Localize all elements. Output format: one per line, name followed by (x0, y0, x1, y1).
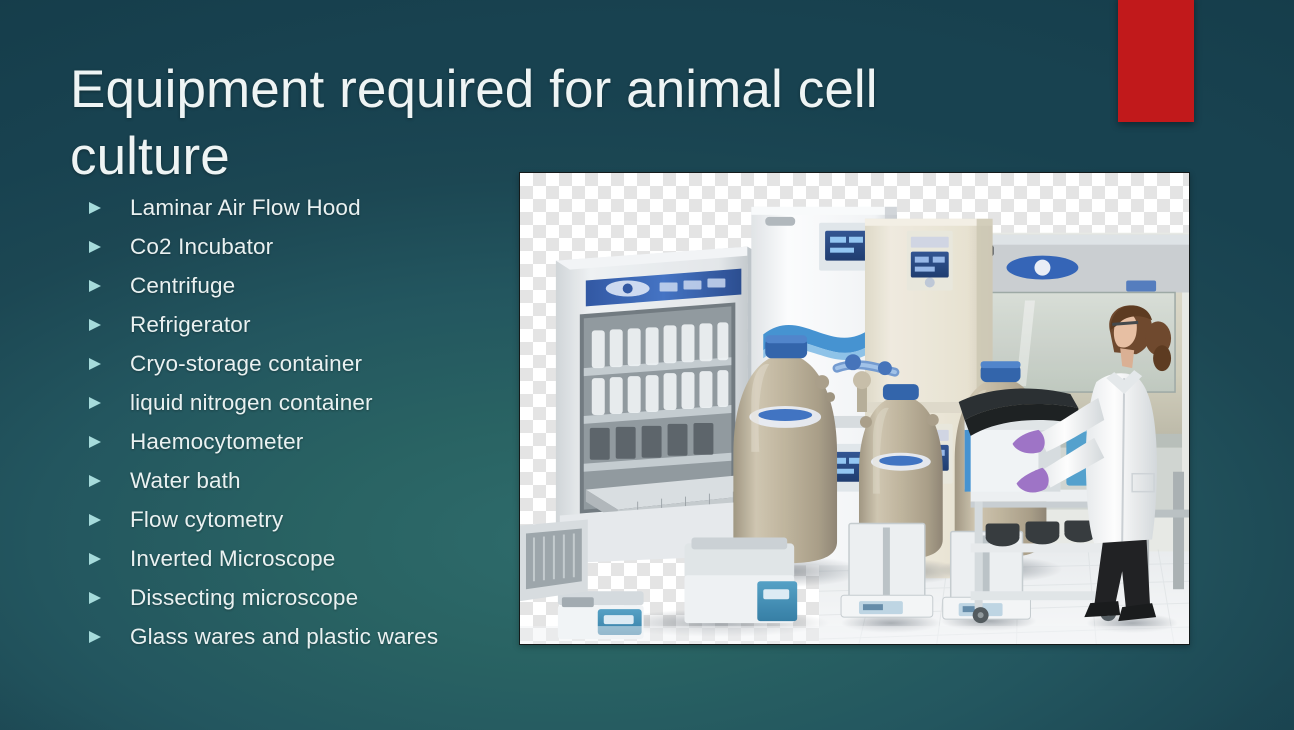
list-item: Glass wares and plastic wares (88, 621, 518, 660)
triangle-bullet-icon (88, 279, 104, 293)
triangle-bullet-icon (88, 396, 104, 410)
list-item-label: Co2 Incubator (130, 231, 273, 262)
list-item: Inverted Microscope (88, 543, 518, 582)
list-item: Dissecting microscope (88, 582, 518, 621)
list-item-label: Dissecting microscope (130, 582, 358, 613)
triangle-bullet-icon (88, 240, 104, 254)
list-item: Refrigerator (88, 309, 518, 348)
triangle-bullet-icon (88, 591, 104, 605)
list-item-label: Laminar Air Flow Hood (130, 192, 361, 223)
list-item-label: Water bath (130, 465, 241, 496)
triangle-bullet-icon (88, 513, 104, 527)
list-item-label: Flow cytometry (130, 504, 283, 535)
list-item: Flow cytometry (88, 504, 518, 543)
triangle-bullet-icon (88, 357, 104, 371)
list-item: Cryo-storage container (88, 348, 518, 387)
list-item-label: Centrifuge (130, 270, 235, 301)
list-item: Co2 Incubator (88, 231, 518, 270)
triangle-bullet-icon (88, 474, 104, 488)
list-item-label: Inverted Microscope (130, 543, 335, 574)
list-item: liquid nitrogen container (88, 387, 518, 426)
lab-equipment-illustration (520, 173, 1189, 644)
list-item: Centrifuge (88, 270, 518, 309)
triangle-bullet-icon (88, 201, 104, 215)
list-item-label: liquid nitrogen container (130, 387, 373, 418)
triangle-bullet-icon (88, 552, 104, 566)
red-accent-bar (1118, 0, 1194, 122)
triangle-bullet-icon (88, 435, 104, 449)
list-item: Water bath (88, 465, 518, 504)
triangle-bullet-icon (88, 318, 104, 332)
list-item-label: Cryo-storage container (130, 348, 362, 379)
bullet-list: Laminar Air Flow Hood Co2 Incubator Cent… (88, 192, 518, 660)
triangle-bullet-icon (88, 630, 104, 644)
list-item-label: Haemocytometer (130, 426, 303, 457)
equipment-photo (519, 172, 1190, 645)
list-item-label: Refrigerator (130, 309, 251, 340)
list-item: Laminar Air Flow Hood (88, 192, 518, 231)
page-title: Equipment required for animal cell cultu… (70, 56, 1080, 190)
list-item: Haemocytometer (88, 426, 518, 465)
presentation-slide: Equipment required for animal cell cultu… (0, 0, 1294, 730)
list-item-label: Glass wares and plastic wares (130, 621, 438, 652)
